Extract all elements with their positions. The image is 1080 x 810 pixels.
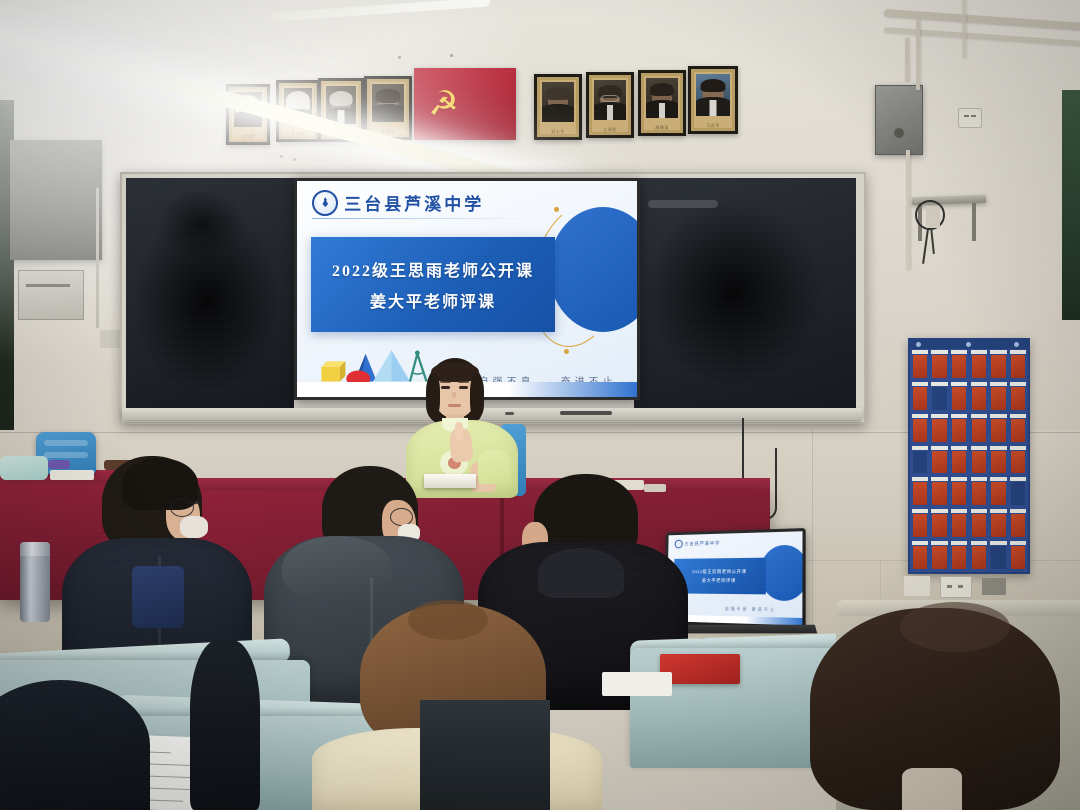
pocket-slot [990,414,1007,418]
portrait-frame: 胡锦涛 [638,70,686,136]
wall-plate [904,576,930,596]
pocket-card [972,355,987,378]
pocket-card [952,419,967,442]
slide-title-band: 2022级王思雨老师公开课 姜大平老师评课 [311,237,556,332]
presenter-eye [459,386,468,389]
coat-hood [282,536,392,600]
pocket-card [1011,546,1026,569]
pocket-slot [951,350,968,354]
pocket-slot [931,541,948,545]
slide-decor-dot [564,349,569,354]
pocket-slot [912,382,929,386]
travel-mug [132,566,184,628]
wall-plate [982,578,1006,595]
pocket-card [952,451,967,474]
pocket-card [913,419,928,442]
pocket-chart-grid [910,349,1028,572]
portrait-frame: 习近平 [688,66,738,134]
pocket-slot [951,382,968,386]
portrait-name: 习近平 [691,123,735,129]
pocket-card [932,387,947,410]
pocket-slot [971,382,988,386]
front-right-collar [902,768,962,810]
wall-speaker [875,85,923,155]
pocket-slot [951,477,968,481]
shelf-item [926,206,940,228]
portrait-name: 恩格斯 [279,131,317,137]
pocket-slot [912,541,929,545]
shadow-gap [420,700,550,810]
slide-divider [312,218,530,219]
wall-screw [280,155,283,158]
pocket-card [913,451,928,474]
pocket-slot [971,509,988,513]
pocket-card [932,419,947,442]
pocket-slot [971,446,988,450]
pocket-slot [931,382,948,386]
pocket-card [991,355,1006,378]
pocket-slot [931,446,948,450]
pocket-slot [931,350,948,354]
pocket-slot [990,509,1007,513]
pocket-card [972,546,987,569]
pocket-card [913,355,928,378]
pocket-slot [912,350,929,354]
pocket-card [991,482,1006,505]
presenter-mouth [448,404,461,407]
pocket-card [932,355,947,378]
pocket-slot [931,414,948,418]
front-right-hair-sheen [900,602,1010,652]
slide-title-line1: 2022级王思雨老师公开课 [332,257,534,281]
red-notebook [660,654,740,684]
wall-screw [398,56,401,59]
pocket-slot [1010,477,1027,481]
pocket-slot [931,509,948,513]
pocket-slot [990,477,1007,481]
pocket-slot [1010,414,1027,418]
pocket-slot [912,509,929,513]
pocket-slot [912,446,929,450]
pocket-card [913,546,928,569]
thermos-flask [20,542,50,622]
pocket-card [1011,451,1026,474]
portrait-name: 胡锦涛 [641,125,683,131]
presenter-hair-side [428,374,440,418]
pocket-slot [951,446,968,450]
glasses-icon [170,498,194,517]
pocket-slot [990,382,1007,386]
pocket-card [913,514,928,537]
pocket-card [932,451,947,474]
pocket-slot [1010,509,1027,513]
slide-decor-dot [554,207,559,212]
pocket-slot [931,477,948,481]
portrait-frame: 邓小平 [534,74,582,140]
pocket-chart [908,338,1030,574]
speaker-cable [916,20,920,90]
portrait-name: 江泽民 [589,127,631,133]
blackboard-left [126,178,294,410]
shelf-bracket [972,203,976,241]
wall-screw [450,54,453,57]
pocket-slot [1010,350,1027,354]
pocket-slot [990,350,1007,354]
pocket-slot [1010,382,1027,386]
pocket-card [952,514,967,537]
front-center-hair-top [408,600,488,640]
pocket-slot [951,541,968,545]
pocket-card [991,419,1006,442]
pocket-card [1011,355,1026,378]
pocket-slot [912,477,929,481]
face-mask [0,456,48,480]
face-mask [180,516,208,538]
presenter-brow [458,381,469,383]
panel-label [26,284,70,287]
pocket-card [972,419,987,442]
pocket-card [1011,419,1026,442]
classroom-photo: 马克思 恩格斯 列宁 毛泽东 ☭ [0,0,1080,810]
pocket-slot [951,509,968,513]
pocket-card [952,546,967,569]
wall-outlet [940,576,972,598]
wall-panel [18,270,84,320]
portrait-frame: 江泽民 [586,72,634,138]
pocket-card [972,482,987,505]
pocket-card [952,482,967,505]
pocket-slot [1010,541,1027,545]
pocket-card [972,514,987,537]
display-control-strip[interactable] [560,411,612,415]
school-name: 三台县芦溪中学 [344,190,484,215]
laptop-school-name: 三台县芦溪中学 [684,540,720,547]
speaker-cable [906,150,910,270]
presenter-eye [441,386,450,389]
presenter-brow [440,381,451,383]
pocket-card [932,546,947,569]
laptop-title-line1: 2022级王思雨老师公开课 [692,569,747,575]
slide-header: 三台县芦溪中学 [312,190,484,216]
pocket-slot [971,541,988,545]
pocket-slot [971,414,988,418]
laptop-title-line2: 姜大平老师评课 [702,578,736,584]
pocket-card [913,387,928,410]
pocket-card [952,355,967,378]
chair-back-dark [190,640,260,810]
wall-screw [293,158,296,161]
pocket-slot [951,414,968,418]
pocket-card [972,387,987,410]
wall-pipe [96,188,99,328]
pocket-card [1011,514,1026,537]
presenter-hair-side [470,374,483,420]
hammer-sickle-icon: ☭ [428,87,463,122]
suit-collar [538,548,624,598]
paper-sheet [602,672,672,696]
pocket-card [991,546,1006,569]
portrait-name: 马克思 [229,134,267,140]
slide-title-line2: 姜大平老师评课 [370,288,496,312]
school-emblem-icon [312,190,338,216]
pocket-card [1011,387,1026,410]
blackboard-right [634,178,856,410]
pocket-card [991,451,1006,474]
conduit-pipe [962,0,966,58]
pocket-slot [990,541,1007,545]
pocket-card [932,482,947,505]
pocket-card [991,387,1006,410]
pocket-card [932,514,947,537]
pocket-slot [971,477,988,481]
pocket-slot [912,414,929,418]
pocket-card [913,482,928,505]
portrait-name: 邓小平 [537,129,579,135]
pocket-slot [990,446,1007,450]
pocket-card [1011,482,1026,505]
wall-outlet [958,108,982,128]
pocket-card [972,451,987,474]
wall-cabinet [10,140,102,260]
pocket-card [991,514,1006,537]
display-cable [742,418,744,484]
person-attendee-front-right [790,608,1080,810]
conduit-pipe [905,38,909,82]
window-frame [1062,90,1080,320]
pocket-card [952,387,967,410]
presenter-finger [455,422,463,440]
pocket-slot [971,350,988,354]
party-flag: ☭ [414,68,516,140]
pocket-slot [1010,446,1027,450]
presenter-nose [452,392,456,398]
